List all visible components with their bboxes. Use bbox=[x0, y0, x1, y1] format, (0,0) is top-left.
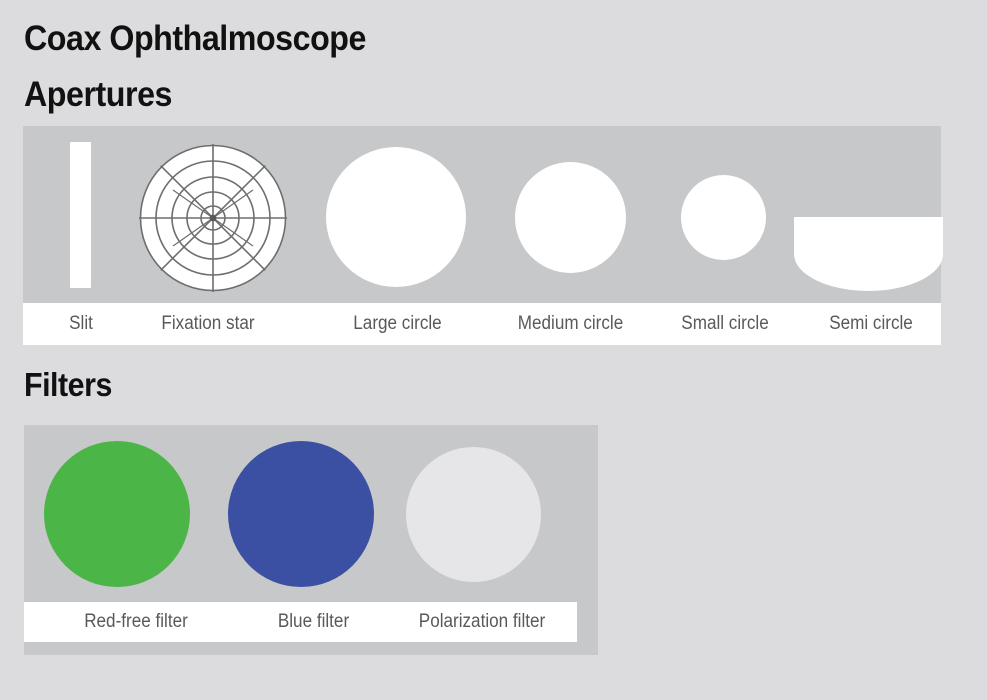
large-circle-icon bbox=[326, 147, 466, 287]
filters-label-strip: Red-free filter Blue filter Polarization… bbox=[24, 602, 577, 642]
filters-section-heading: Filters bbox=[24, 367, 112, 403]
aperture-label-medium-circle: Medium circle bbox=[474, 314, 668, 333]
filters-panel: Red-free filter Blue filter Polarization… bbox=[24, 425, 598, 655]
filter-label-red-free: Red-free filter bbox=[46, 612, 226, 631]
aperture-label-fixation-star: Fixation star bbox=[123, 314, 294, 333]
semi-circle-icon bbox=[794, 217, 943, 291]
aperture-label-large-circle: Large circle bbox=[310, 314, 486, 333]
fixation-star-icon bbox=[138, 143, 288, 293]
apertures-shape-stage bbox=[23, 126, 941, 303]
slit-bar-icon bbox=[70, 142, 91, 288]
page-title-line-1: Coax Ophthalmoscope bbox=[24, 20, 366, 58]
filter-label-polarization: Polarization filter bbox=[392, 612, 572, 631]
green-filter-disc-icon bbox=[44, 441, 190, 587]
polarization-filter-disc-icon bbox=[406, 447, 541, 582]
small-circle-icon bbox=[681, 175, 766, 260]
apertures-panel: Slit Fixation star Large circle Medium c… bbox=[23, 126, 941, 345]
apertures-label-strip: Slit Fixation star Large circle Medium c… bbox=[23, 303, 941, 345]
page-title-line-2: Apertures bbox=[24, 76, 172, 114]
filters-shape-stage bbox=[24, 425, 598, 602]
medium-circle-icon bbox=[515, 162, 626, 273]
blue-filter-disc-icon bbox=[228, 441, 374, 587]
aperture-label-semi-circle: Semi circle bbox=[786, 314, 957, 333]
filter-label-blue: Blue filter bbox=[235, 612, 393, 631]
aperture-label-slit: Slit bbox=[45, 314, 117, 333]
